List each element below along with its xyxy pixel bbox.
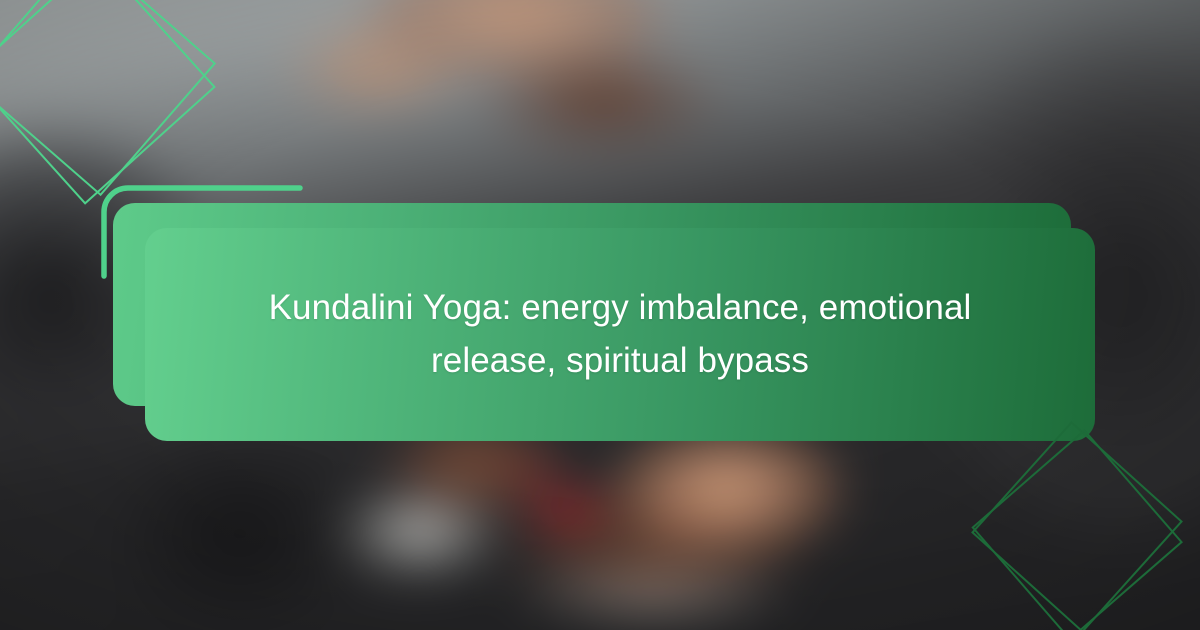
- decorative-squares-top-left: [4, 0, 180, 160]
- decorative-squares-bottom-right: [1002, 452, 1152, 602]
- social-card-canvas: Kundalini Yoga: energy imbalance, emotio…: [0, 0, 1200, 630]
- page-title: Kundalini Yoga: energy imbalance, emotio…: [225, 282, 1015, 387]
- title-card: Kundalini Yoga: energy imbalance, emotio…: [145, 228, 1095, 441]
- rotated-square-outline: [971, 429, 1183, 630]
